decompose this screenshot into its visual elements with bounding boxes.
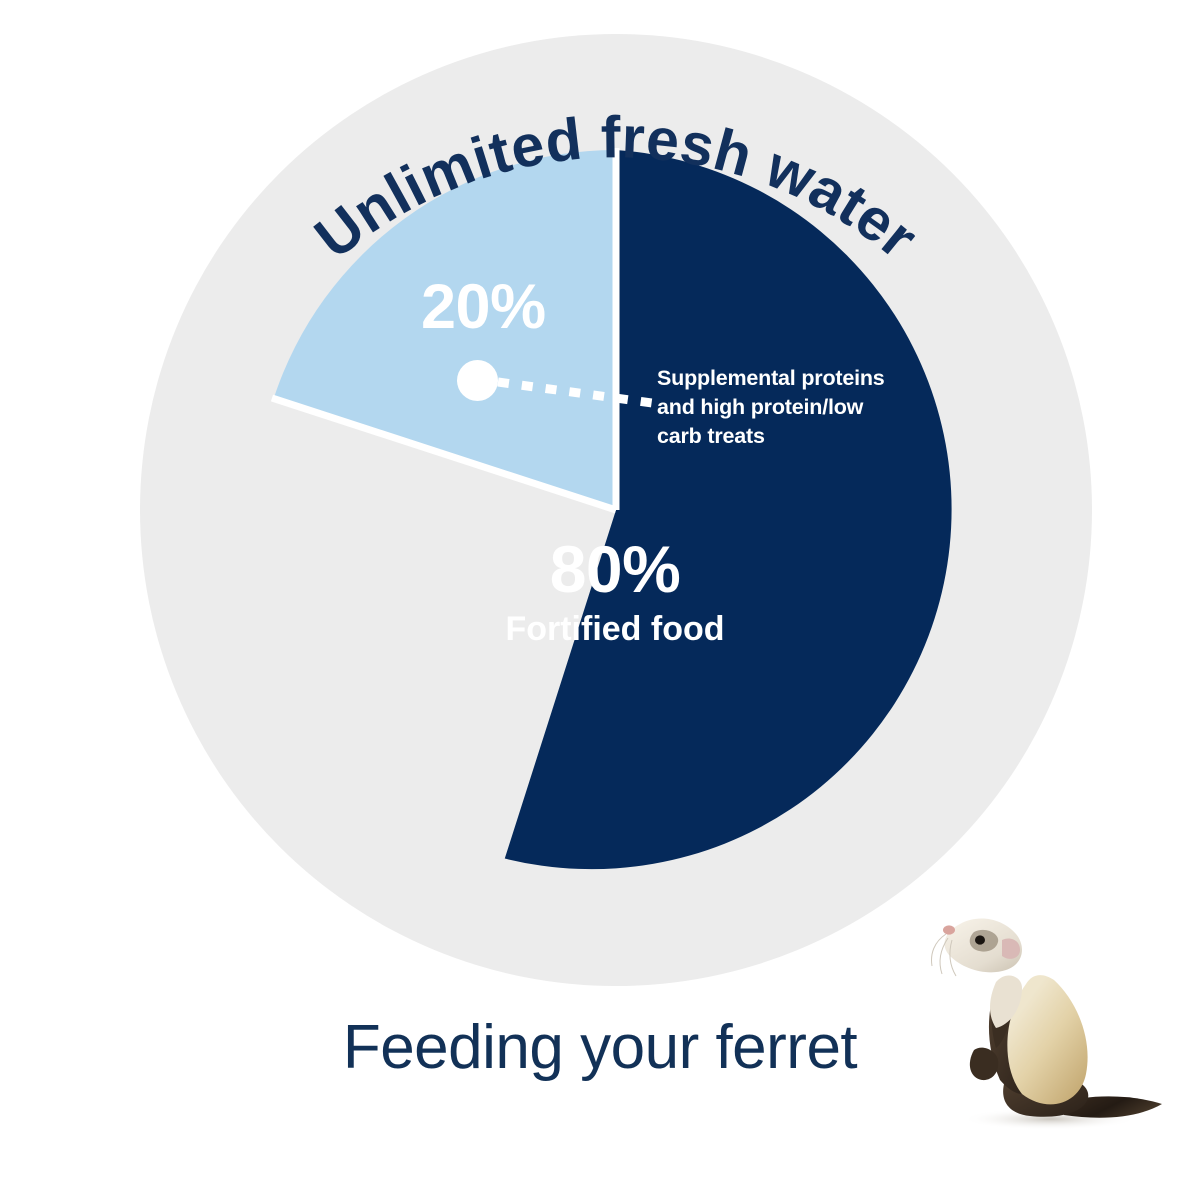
callout-line-1: Supplemental proteins	[657, 364, 957, 393]
curved-title-text: Unlimited fresh water	[303, 104, 930, 271]
slice-label-20-percent: 20%	[421, 276, 546, 339]
callout-line-2: and high protein/low	[657, 393, 957, 422]
callout-line-3: carb treats	[657, 422, 957, 451]
ferret-photo	[930, 888, 1170, 1133]
slice-label-80-block: 80% Fortified food	[380, 535, 850, 649]
slice-label-80-percent: 80%	[380, 535, 850, 604]
ferret-nose	[943, 925, 955, 934]
ferret-eye	[975, 935, 985, 944]
callout-text-block: Supplemental proteins and high protein/l…	[657, 364, 957, 451]
slice-label-80-name: Fortified food	[380, 610, 850, 649]
infographic-page: Unlimited fresh water 20% Supplemental p…	[0, 0, 1200, 1177]
callout-dot-marker	[457, 360, 498, 401]
